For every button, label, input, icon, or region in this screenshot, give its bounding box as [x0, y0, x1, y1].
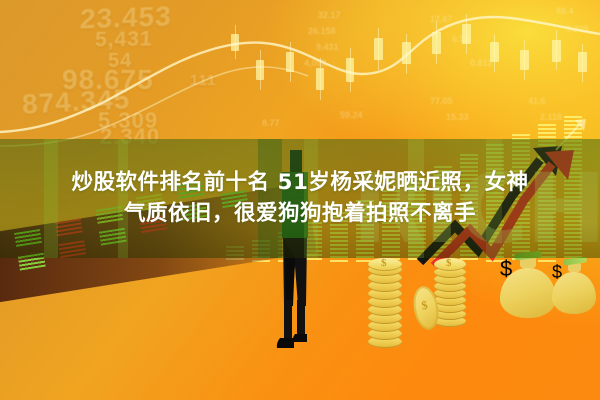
coin-dollar-sign: $ — [381, 257, 387, 269]
coin-stack: $ — [434, 258, 466, 330]
money-bag: $ — [500, 256, 556, 318]
caption-line-1: 炒股软件排名前十名 51岁杨采妮晒近照，女神 — [72, 171, 529, 196]
caption-line-2: 气质依旧，很爱狗狗抱着拍照不离手 — [124, 202, 476, 227]
caption-text-block: 炒股软件排名前十名 51岁杨采妮晒近照，女神 气质依旧，很爱狗狗抱着拍照不离手 — [0, 139, 600, 258]
coin-dollar-sign: $ — [446, 257, 452, 269]
banner-image: 23.453 5,431 54 98.675 874.345 5.309 2.3… — [0, 0, 600, 400]
money-bag: $ — [552, 262, 596, 314]
coin-stack: $ — [368, 258, 402, 350]
coin-dollar-sign: $ — [420, 298, 429, 314]
